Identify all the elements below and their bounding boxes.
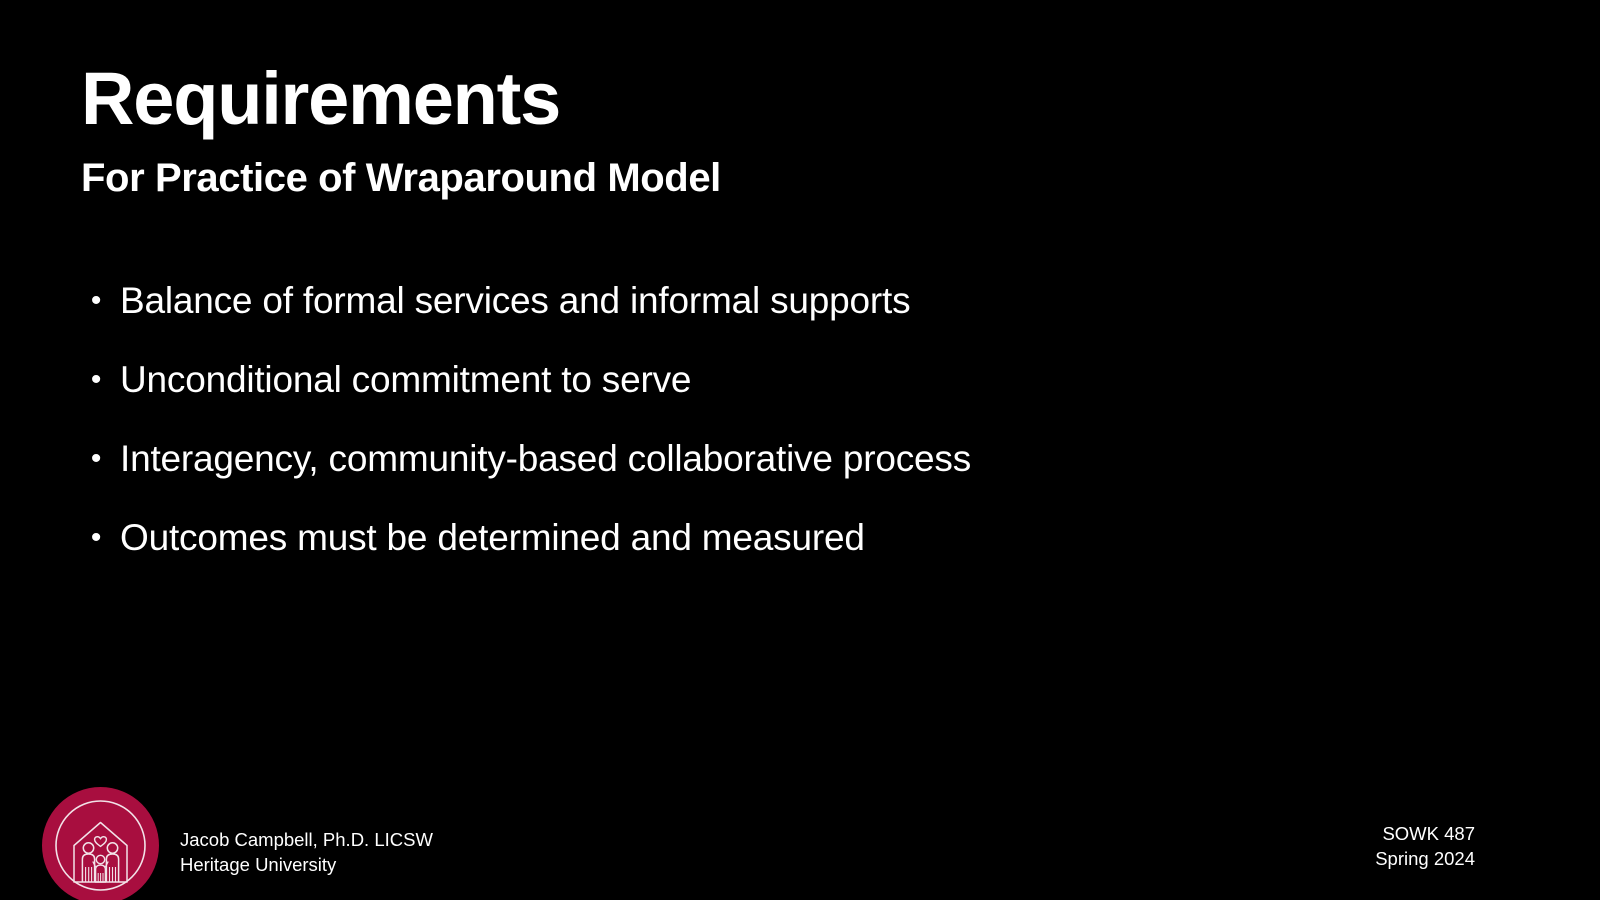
list-item-label: Outcomes must be determined and measured xyxy=(120,509,865,566)
bullet-dot-icon: • xyxy=(86,509,106,566)
list-item: • Balance of formal services and informa… xyxy=(81,272,1521,351)
presenter-name: Jacob Campbell, Ph.D. LICSW xyxy=(180,827,433,852)
presenter-institution: Heritage University xyxy=(180,852,433,877)
bullet-dot-icon: • xyxy=(86,272,106,329)
presenter-credit: Jacob Campbell, Ph.D. LICSW Heritage Uni… xyxy=(180,827,433,877)
list-item-label: Balance of formal services and informal … xyxy=(120,272,910,329)
slide-header: Requirements For Practice of Wraparound … xyxy=(81,62,1521,198)
list-item: • Interagency, community-based collabora… xyxy=(81,430,1521,509)
course-term: Spring 2024 xyxy=(1375,846,1475,871)
page-subtitle: For Practice of Wraparound Model xyxy=(81,158,1521,198)
course-code: SOWK 487 xyxy=(1375,821,1475,846)
bullet-list: • Balance of formal services and informa… xyxy=(81,272,1521,588)
list-item: • Outcomes must be determined and measur… xyxy=(81,509,1521,588)
list-item: • Unconditional commitment to serve xyxy=(81,351,1521,430)
course-info: SOWK 487 Spring 2024 xyxy=(1375,821,1475,871)
list-item-label: Unconditional commitment to serve xyxy=(120,351,691,408)
slide-canvas: Requirements For Practice of Wraparound … xyxy=(0,0,1600,900)
page-title: Requirements xyxy=(81,62,1521,136)
bullet-dot-icon: • xyxy=(86,351,106,408)
heritage-university-logo-icon xyxy=(42,787,159,900)
bullet-dot-icon: • xyxy=(86,430,106,487)
list-item-label: Interagency, community-based collaborati… xyxy=(120,430,971,487)
